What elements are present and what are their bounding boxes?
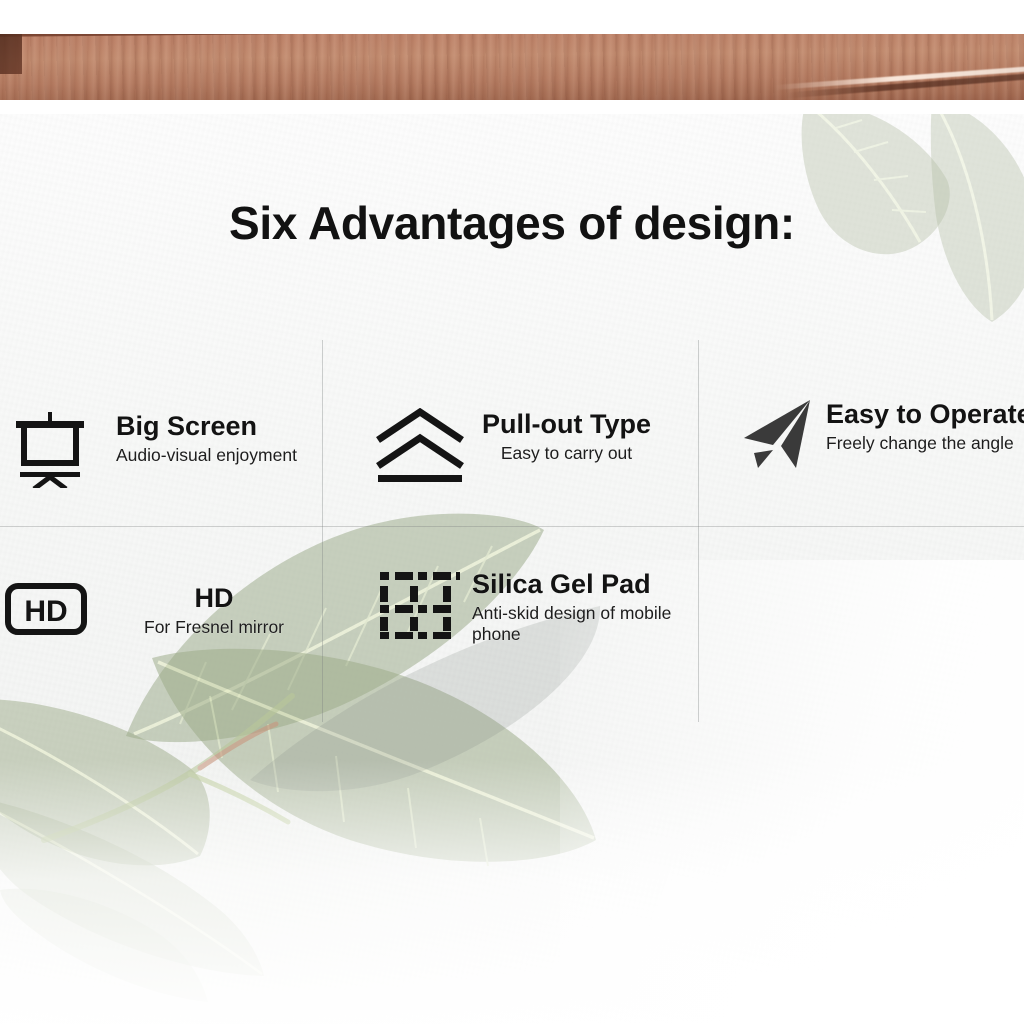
feature-subtitle: Audio-visual enjoyment [116,445,297,466]
feature-title: Easy to Operate [826,400,1024,429]
feature-hd: HD HD For Fresnel mirror [4,582,284,638]
feature-title: Pull-out Type [482,410,651,439]
feature-silica-text: Silica Gel Pad Anti-skid design of mobil… [472,568,687,644]
feature-title: HD [144,584,284,613]
feature-subtitle: Freely change the angle [826,433,1024,454]
feature-easy-operate-text: Easy to Operate Freely change the angle [826,398,1024,454]
dashed-grid-icon [376,568,460,640]
double-chevron-up-icon [372,408,468,488]
feature-title: Big Screen [116,412,297,441]
hd-badge-icon: HD [4,582,88,636]
feature-subtitle: Anti-skid design of mobile phone [472,603,687,644]
feature-big-screen-text: Big Screen Audio-visual enjoyment [108,410,297,466]
feature-pull-out-text: Pull-out Type Easy to carry out [482,408,651,464]
product-feature-banner: Six Advantages of design: Big Scr [0,0,1024,1024]
paper-plane-icon [740,398,816,474]
feature-title: Silica Gel Pad [472,570,687,599]
feature-silica-gel-pad: Silica Gel Pad Anti-skid design of mobil… [376,568,687,644]
feature-subtitle: For Fresnel mirror [144,617,284,638]
projector-screen-icon [8,410,94,488]
feature-easy-to-operate: Easy to Operate Freely change the angle [740,398,1024,474]
feature-hd-text: HD For Fresnel mirror [102,582,284,638]
feature-pull-out-type: Pull-out Type Easy to carry out [372,408,651,488]
feature-subtitle: Easy to carry out [482,443,651,464]
feature-big-screen: Big Screen Audio-visual enjoyment [8,410,297,488]
feature-grid: Big Screen Audio-visual enjoyment Pull-o… [0,0,1024,1024]
svg-text:HD: HD [24,595,67,628]
page-title: Six Advantages of design: [0,196,1024,250]
